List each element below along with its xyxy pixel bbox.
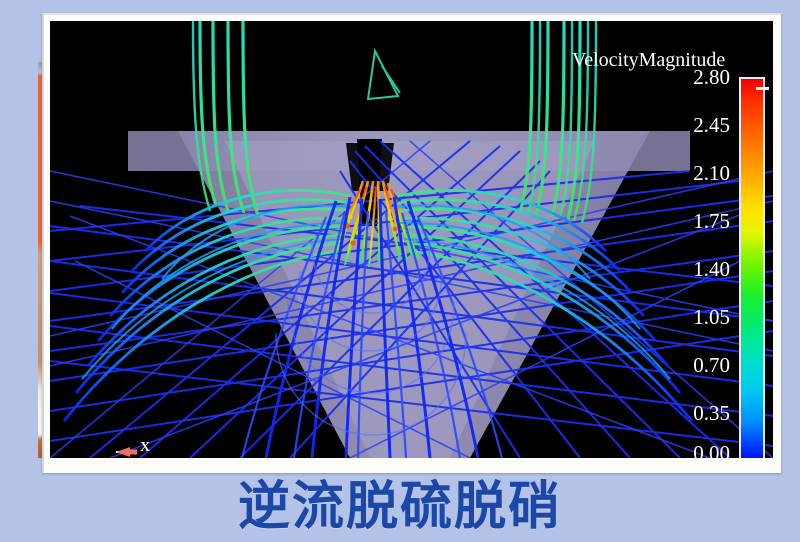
scalar-bar-max-label: 2.74 (772, 75, 773, 100)
axis-label-x: X (140, 440, 150, 456)
scalar-bar-tick-label-8: 0.00 (664, 441, 730, 458)
scalar-bar-tick-label-0: 2.80 (664, 65, 730, 90)
scalar-bar-gradient[interactable] (739, 77, 765, 458)
scalar-bar-tick-label-1: 2.45 (664, 113, 730, 138)
scalar-bar-tick-label-6: 0.70 (664, 353, 730, 378)
cfd-render-viewport[interactable]: VelocityMagnitude 2.74 0.00 2.80 2.45 2.… (50, 21, 773, 458)
screenshot-root: VelocityMagnitude 2.74 0.00 2.80 2.45 2.… (0, 0, 800, 542)
orientation-axes-widget[interactable]: X (104, 439, 160, 458)
scalar-bar-tick-label-2: 2.10 (664, 161, 730, 186)
scalar-bar-tick-label-3: 1.75 (664, 209, 730, 234)
scalar-bar-tick-label-4: 1.40 (664, 257, 730, 282)
x-axis-arrow-icon (104, 439, 160, 458)
scalar-bar-tick-label-7: 0.35 (664, 401, 730, 426)
scalar-bar-tick-label-5: 1.05 (664, 305, 730, 330)
scalar-bar-max-tick (756, 87, 769, 90)
figure-caption: 逆流脱硫脱硝 (0, 480, 800, 535)
